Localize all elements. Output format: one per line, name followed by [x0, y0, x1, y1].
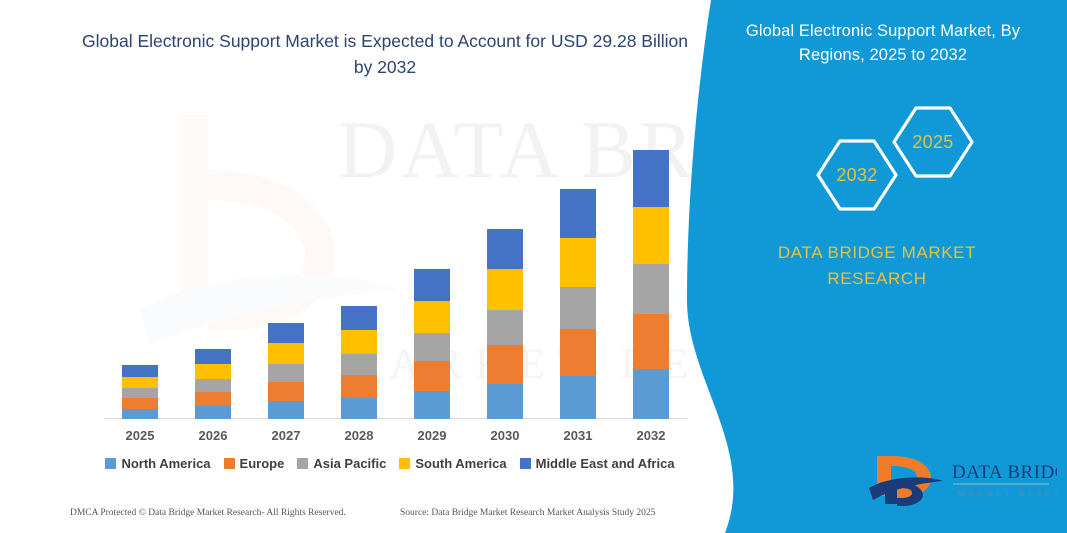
bar-segment: [633, 314, 669, 369]
x-axis-label-2032: 2032: [615, 428, 687, 443]
x-axis-label-2026: 2026: [177, 428, 249, 443]
bar-segment: [414, 301, 450, 333]
x-axis-label-2029: 2029: [396, 428, 468, 443]
footer-source: Source: Data Bridge Market Research Mark…: [400, 508, 655, 518]
hexagon-2032: 2032: [815, 138, 899, 212]
legend-swatch: [297, 458, 308, 469]
bar-segment: [268, 343, 304, 363]
stacked-bar: [341, 306, 377, 419]
bar-segment: [341, 375, 377, 398]
hexagon-group: 2025 2032: [687, 95, 1067, 210]
legend-swatch: [105, 458, 116, 469]
hexagon-2025-label: 2025: [891, 105, 975, 179]
bar-segment: [487, 384, 523, 419]
bar-segment: [341, 330, 377, 354]
bar-segment: [414, 391, 450, 419]
bar-chart-plot: [104, 140, 687, 419]
hexagon-2032-label: 2032: [815, 138, 899, 212]
bar-column-2031: [542, 140, 614, 419]
logo-tagline: MARKET RESEARCH: [957, 488, 1057, 498]
bar-segment: [195, 349, 231, 364]
bar-segment: [560, 189, 596, 238]
bar-column-2025: [104, 140, 176, 419]
stacked-bar: [268, 323, 304, 419]
bar-segment: [268, 364, 304, 382]
bar-column-2026: [177, 140, 249, 419]
bar-segment: [341, 306, 377, 330]
bar-segment: [560, 287, 596, 330]
bar-column-2027: [250, 140, 322, 419]
bar-segment: [487, 269, 523, 309]
bar-segment: [414, 361, 450, 392]
footer-copyright: DMCA Protected © Data Bridge Market Rese…: [70, 508, 346, 518]
stacked-bar: [560, 189, 596, 419]
brand-line-2: RESEARCH: [687, 266, 1067, 292]
bar-segment: [560, 376, 596, 419]
bar-segment: [341, 398, 377, 419]
legend-label: South America: [415, 456, 506, 471]
bar-segment: [122, 398, 158, 409]
legend-label: Europe: [240, 456, 285, 471]
data-bridge-logo: DATA BRIDGE MARKET RESEARCH: [867, 448, 1057, 510]
bar-segment: [195, 406, 231, 419]
panel-title: Global Electronic Support Market, By Reg…: [717, 20, 1049, 68]
infographic-page: DATA BRIDGE MARKET RESEARCH Global Elect…: [0, 0, 1067, 533]
bar-segment: [195, 379, 231, 392]
bar-segment: [122, 365, 158, 377]
bar-segment: [487, 229, 523, 269]
x-axis-label-2031: 2031: [542, 428, 614, 443]
right-blue-panel: Global Electronic Support Market, By Reg…: [687, 0, 1067, 533]
bar-segment: [560, 238, 596, 287]
legend-label: Asia Pacific: [313, 456, 386, 471]
bar-segment: [341, 354, 377, 375]
bar-column-2029: [396, 140, 468, 419]
bar-segment: [633, 207, 669, 264]
legend-label: Middle East and Africa: [536, 456, 675, 471]
bar-segment: [487, 310, 523, 345]
stacked-bar: [414, 269, 450, 419]
legend-swatch: [224, 458, 235, 469]
bar-segment: [560, 329, 596, 376]
stacked-bar: [633, 150, 669, 419]
hexagon-2025: 2025: [891, 105, 975, 179]
stacked-bar: [195, 349, 231, 419]
x-axis-label-2028: 2028: [323, 428, 395, 443]
bar-column-2032: [615, 140, 687, 419]
legend-swatch: [399, 458, 410, 469]
x-axis-label-2027: 2027: [250, 428, 322, 443]
bar-segment: [633, 264, 669, 314]
logo-mark-icon: [869, 456, 943, 506]
legend-item[interactable]: South America: [399, 456, 506, 471]
bar-segment: [195, 364, 231, 379]
bar-segment: [268, 323, 304, 343]
bar-column-2030: [469, 140, 541, 419]
brand-name: DATA BRIDGE MARKET RESEARCH: [687, 240, 1067, 293]
legend-item[interactable]: Europe: [224, 456, 285, 471]
legend-item[interactable]: North America: [105, 456, 210, 471]
bar-segment: [122, 377, 158, 389]
legend-label: North America: [121, 456, 210, 471]
x-axis-labels: 20252026202720282029203020312032: [104, 428, 687, 443]
bar-column-2028: [323, 140, 395, 419]
page-title: Global Electronic Support Market is Expe…: [75, 28, 695, 81]
bar-segment: [414, 333, 450, 361]
x-axis-label-2025: 2025: [104, 428, 176, 443]
legend-item[interactable]: Asia Pacific: [297, 456, 386, 471]
bar-segment: [414, 269, 450, 301]
bar-segment: [122, 388, 158, 398]
bar-segment: [268, 382, 304, 402]
x-axis-label-2030: 2030: [469, 428, 541, 443]
chart-legend: North AmericaEuropeAsia PacificSouth Ame…: [95, 456, 685, 471]
bar-segment: [487, 345, 523, 384]
legend-swatch: [520, 458, 531, 469]
bar-segment: [633, 369, 669, 419]
brand-line-1: DATA BRIDGE MARKET: [687, 240, 1067, 266]
stacked-bar: [122, 365, 158, 419]
stacked-bar: [487, 229, 523, 419]
bar-segment: [195, 392, 231, 406]
bar-segment: [122, 409, 158, 419]
logo-wordmark: DATA BRIDGE: [952, 462, 1057, 483]
bar-segment: [633, 150, 669, 207]
legend-item[interactable]: Middle East and Africa: [520, 456, 675, 471]
bar-segment: [268, 401, 304, 419]
